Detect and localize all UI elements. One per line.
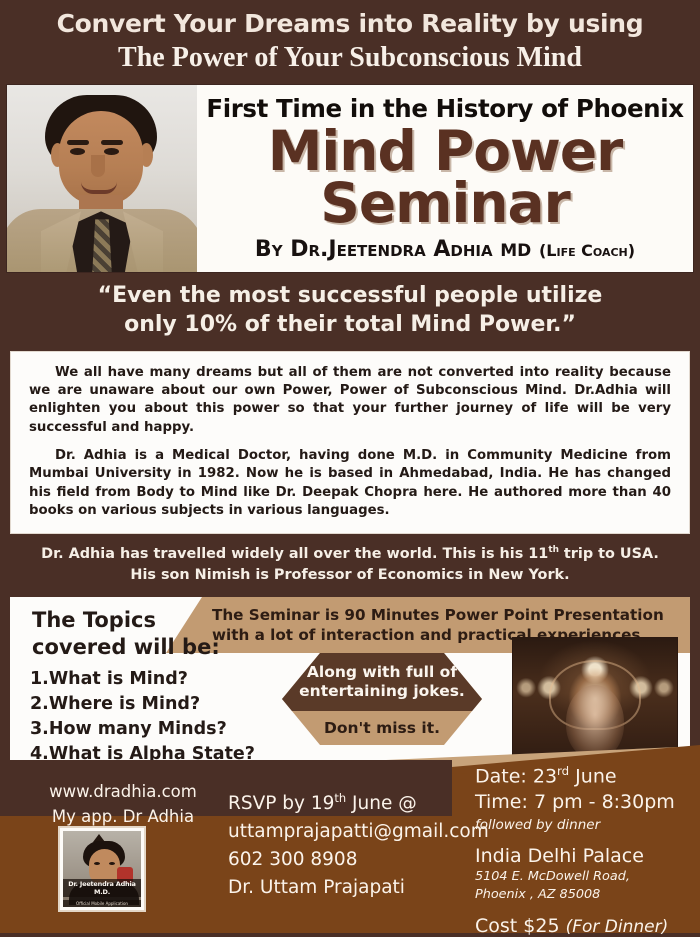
app-photo-eye-left [94,862,100,865]
website-url[interactable]: www.dradhia.com [28,780,218,805]
event-details-group: Date: 23rd June Time: 7 pm - 8:30pm foll… [475,764,675,937]
rsvp-pre: RSVP by 19 [228,793,334,814]
rsvp-contact-person: Dr. Uttam Prajapati [228,874,489,902]
poster-header: Convert Your Dreams into Reality by usin… [0,0,700,80]
mind-face [566,685,624,759]
event-cost-label: Cost $25 [475,915,560,937]
app-badge-subcaption: Official Mobile Application [63,900,141,907]
travel-line1-pre: Dr. Adhia has travelled widely all over … [41,546,548,562]
quote-line1: “Even the most successful people utilize [30,282,670,311]
topic-item: 2.Where is Mind? [30,692,272,717]
speaker-byline: By Dr.Jeetendra Adhia MD (Life Coach) [255,237,635,262]
travel-line1: Dr. Adhia has travelled widely all over … [20,544,680,565]
travel-line2: His son Nimish is Professor of Economics… [20,565,680,586]
event-date-ordinal: rd [557,764,569,778]
topic-item: 1.What is Mind? [30,667,272,692]
byline-role: (Life Coach) [539,241,635,260]
featured-quote: “Even the most successful people utilize… [0,273,700,350]
event-cost-note: (For Dinner) [566,917,669,937]
description-paragraph-1: We all have many dreams but all of them … [29,364,671,437]
quote-line2: only 10% of their total Mind Power.” [30,311,670,340]
rsvp-group: RSVP by 19th June @ uttamprajapatti@gmai… [228,790,489,903]
jokes-line3: Don't miss it. [324,719,440,737]
rsvp-post: June @ [346,793,417,814]
title-block: First Time in the History of Phoenix Min… [6,84,694,273]
rsvp-phone[interactable]: 602 300 8908 [228,846,489,874]
travel-ordinal: th [548,545,559,555]
header-tagline-line1: Convert Your Dreams into Reality by usin… [0,10,700,39]
jokes-callout-bottom: Don't miss it. [282,711,482,745]
jokes-line2: entertaining jokes. [299,682,465,701]
topics-heading-line2: covered will be: [32,634,220,661]
byline-degree: MD [500,241,531,261]
event-address-line2: Phoenix , AZ 85008 [475,886,675,904]
event-date-pre: Date: 23 [475,765,557,787]
speaker-photo [7,85,197,272]
topics-heading: The Topics covered will be: [32,607,220,662]
event-date: Date: 23rd June [475,764,675,790]
rsvp-email[interactable]: uttamprajapatti@gmail.com [228,818,489,846]
title-text-group: First Time in the History of Phoenix Min… [197,85,693,272]
photo-brow-left [67,140,89,145]
header-tagline-line2: The Power of Your Subconscious Mind [0,41,700,75]
event-venue: India Delhi Palace [475,844,675,869]
travel-band: Dr. Adhia has travelled widely all over … [0,534,700,597]
footer-panel: www.dradhia.com My app. Dr Adhia Dr. Jee… [0,760,700,933]
event-date-post: June [569,765,616,787]
photo-nose [91,155,105,177]
topic-item: 3.How many Minds? [30,717,272,742]
poster-root: Convert Your Dreams into Reality by usin… [0,0,700,933]
website-group: www.dradhia.com My app. Dr Adhia [28,780,218,830]
jokes-callout: Along with full of entertaining jokes. D… [282,653,482,745]
app-badge-image: Dr. Jeetendra Adhia M.D. Official Mobile… [63,831,141,907]
title-main-line2: Seminar [320,177,569,231]
description-panel: We all have many dreams but all of them … [10,351,690,535]
event-cost: Cost $25 (For Dinner) [475,915,675,937]
description-paragraph-2: Dr. Adhia is a Medical Doctor, having do… [29,447,671,520]
event-address-line1: 5104 E. McDowell Road, [475,868,675,886]
event-time: Time: 7 pm - 8:30pm [475,790,675,816]
app-badge[interactable]: Dr. Jeetendra Adhia M.D. Official Mobile… [58,826,146,912]
event-time-note: followed by dinner [475,816,675,835]
photo-brow-right [101,140,123,145]
topics-heading-line1: The Topics [32,607,220,634]
jokes-callout-top: Along with full of entertaining jokes. [282,653,482,711]
travel-line1-post: trip to USA. [559,546,659,562]
app-photo-eye-right [109,862,115,865]
byline-name: By Dr.Jeetendra Adhia [255,237,493,262]
app-badge-caption: Dr. Jeetendra Adhia M.D. [63,879,141,897]
jokes-line1: Along with full of [307,663,457,682]
rsvp-ordinal: th [334,791,346,805]
seminar-format-line1: The Seminar is 90 Minutes Power Point Pr… [212,605,690,625]
photo-tie [92,219,112,272]
rsvp-deadline: RSVP by 19th June @ [228,790,489,818]
